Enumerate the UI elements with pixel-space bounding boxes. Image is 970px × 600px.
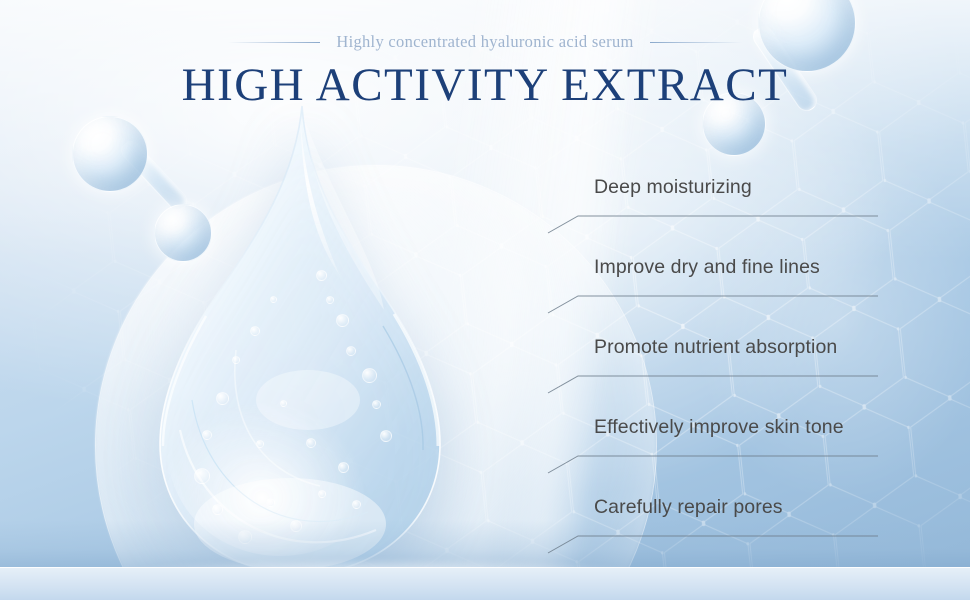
bubble bbox=[380, 430, 392, 442]
feature-underline bbox=[548, 292, 878, 314]
feature-item: Promote nutrient absorption bbox=[548, 320, 888, 400]
subtitle-rule-right bbox=[650, 42, 742, 43]
bubble bbox=[270, 296, 277, 303]
feature-item: Improve dry and fine lines bbox=[548, 240, 888, 320]
bubble bbox=[194, 468, 210, 484]
feature-item: Deep moisturizing bbox=[548, 160, 888, 240]
feature-underline bbox=[548, 212, 878, 234]
subtitle-row: Highly concentrated hyaluronic acid seru… bbox=[0, 32, 970, 52]
surface-band bbox=[0, 567, 970, 600]
horizon-line bbox=[0, 567, 970, 568]
bubble bbox=[232, 356, 240, 364]
bubble bbox=[372, 400, 381, 409]
feature-underline bbox=[548, 532, 878, 554]
molecule-sphere bbox=[154, 204, 212, 262]
feature-label: Improve dry and fine lines bbox=[594, 256, 820, 279]
subtitle-rule-left bbox=[228, 42, 320, 43]
bubble bbox=[212, 504, 223, 515]
feature-label: Promote nutrient absorption bbox=[594, 336, 837, 359]
bubble bbox=[338, 462, 349, 473]
bubble bbox=[336, 314, 349, 327]
product-banner: Highly concentrated hyaluronic acid seru… bbox=[0, 0, 970, 600]
molecule-sphere bbox=[72, 116, 148, 192]
bubble bbox=[318, 490, 326, 498]
bubble bbox=[216, 392, 229, 405]
bubble bbox=[346, 346, 356, 356]
feature-underline bbox=[548, 452, 878, 474]
feature-label: Carefully repair pores bbox=[594, 496, 783, 519]
banner-title: HIGH ACTIVITY EXTRACT bbox=[0, 58, 970, 112]
feature-label: Deep moisturizing bbox=[594, 176, 752, 199]
bubble bbox=[280, 400, 287, 407]
feature-label: Effectively improve skin tone bbox=[594, 416, 844, 439]
bubble bbox=[202, 430, 212, 440]
bubble bbox=[362, 368, 377, 383]
banner-subtitle: Highly concentrated hyaluronic acid seru… bbox=[336, 32, 633, 52]
bubble bbox=[256, 440, 264, 448]
feature-item: Carefully repair pores bbox=[548, 480, 888, 560]
feature-item: Effectively improve skin tone bbox=[548, 400, 888, 480]
feature-list: Deep moisturizing Improve dry and fine l… bbox=[548, 160, 888, 560]
bubble bbox=[306, 438, 316, 448]
bubble bbox=[352, 500, 361, 509]
banner-header: Highly concentrated hyaluronic acid seru… bbox=[0, 32, 970, 112]
bubble bbox=[250, 326, 260, 336]
bubble bbox=[326, 296, 334, 304]
bubble bbox=[316, 270, 327, 281]
molecule-left bbox=[58, 108, 228, 278]
bubble bbox=[266, 498, 275, 507]
feature-underline bbox=[548, 372, 878, 394]
